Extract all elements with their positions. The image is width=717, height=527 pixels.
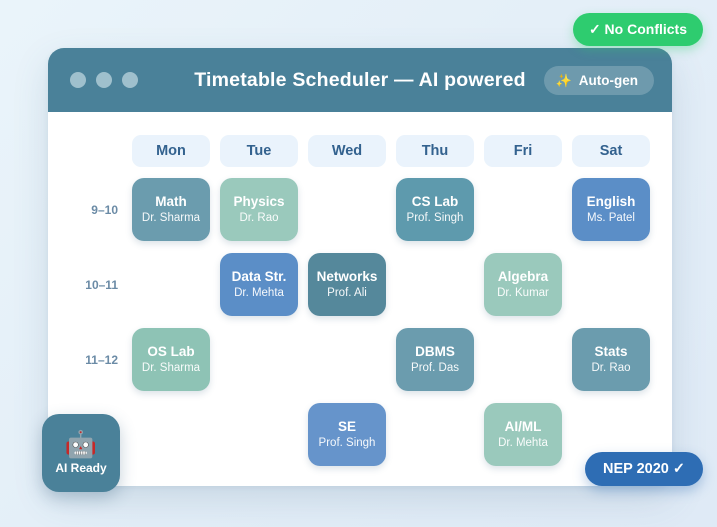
class-card[interactable]: AlgebraDr. Kumar	[484, 253, 562, 316]
class-card[interactable]: SEProf. Singh	[308, 403, 386, 466]
class-subject: DBMS	[415, 345, 455, 359]
class-subject: Algebra	[498, 270, 548, 284]
time-slot-label: 10–11	[70, 278, 122, 292]
status-badge-nep-2020[interactable]: NEP 2020 ✓	[585, 452, 703, 486]
minimize-icon[interactable]	[96, 72, 112, 88]
class-subject: Stats	[594, 345, 627, 359]
class-card[interactable]: Data Str.Dr. Mehta	[220, 253, 298, 316]
class-teacher: Ms. Patel	[587, 212, 635, 224]
window-controls[interactable]	[70, 72, 138, 88]
window-titlebar: Timetable Scheduler — AI powered ✨ Auto-…	[48, 48, 672, 112]
time-slot-label: 11–12	[70, 353, 122, 367]
class-teacher: Dr. Sharma	[142, 212, 200, 224]
class-teacher: Prof. Das	[411, 362, 459, 374]
close-icon[interactable]	[70, 72, 86, 88]
day-header-mon[interactable]: Mon	[132, 135, 210, 167]
class-subject: AI/ML	[505, 420, 542, 434]
class-card[interactable]: MathDr. Sharma	[132, 178, 210, 241]
day-header-tue[interactable]: Tue	[220, 135, 298, 167]
class-subject: SE	[338, 420, 356, 434]
day-header-fri[interactable]: Fri	[484, 135, 562, 167]
timetable-cell-empty[interactable]	[220, 328, 298, 391]
class-subject: Networks	[317, 270, 378, 284]
timetable-cell-empty[interactable]	[132, 403, 210, 466]
timetable-cell-empty[interactable]	[308, 328, 386, 391]
class-teacher: Prof. Singh	[407, 212, 464, 224]
timetable-cell-empty[interactable]	[396, 253, 474, 316]
class-subject: OS Lab	[147, 345, 194, 359]
timetable-body: MonTueWedThuFriSat9–10MathDr. SharmaPhys…	[48, 112, 672, 486]
auto-gen-button[interactable]: ✨ Auto-gen	[544, 66, 654, 95]
status-badge-no-conflicts[interactable]: ✓ No Conflicts	[573, 13, 703, 46]
class-teacher: Dr. Sharma	[142, 362, 200, 374]
robot-icon: 🤖	[65, 431, 97, 457]
class-subject: English	[587, 195, 636, 209]
class-card[interactable]: PhysicsDr. Rao	[220, 178, 298, 241]
class-card[interactable]: NetworksProf. Ali	[308, 253, 386, 316]
timetable-cell-empty[interactable]	[132, 253, 210, 316]
timetable-cell-empty[interactable]	[308, 178, 386, 241]
class-teacher: Prof. Singh	[319, 437, 376, 449]
ai-ready-label: AI Ready	[55, 461, 106, 475]
app-window: Timetable Scheduler — AI powered ✨ Auto-…	[48, 48, 672, 486]
timetable-cell-empty[interactable]	[396, 403, 474, 466]
class-card[interactable]: OS LabDr. Sharma	[132, 328, 210, 391]
class-subject: Data Str.	[232, 270, 287, 284]
class-card[interactable]: CS LabProf. Singh	[396, 178, 474, 241]
class-card[interactable]: DBMSProf. Das	[396, 328, 474, 391]
class-card[interactable]: AI/MLDr. Mehta	[484, 403, 562, 466]
timetable-cell-empty[interactable]	[484, 328, 562, 391]
day-header-sat[interactable]: Sat	[572, 135, 650, 167]
class-subject: Math	[155, 195, 187, 209]
class-teacher: Dr. Kumar	[497, 287, 549, 299]
class-teacher: Dr. Rao	[240, 212, 279, 224]
ai-ready-widget[interactable]: 🤖 AI Ready	[42, 414, 120, 492]
class-teacher: Dr. Mehta	[498, 437, 548, 449]
day-header-thu[interactable]: Thu	[396, 135, 474, 167]
class-teacher: Prof. Ali	[327, 287, 367, 299]
class-subject: Physics	[233, 195, 284, 209]
class-card[interactable]: EnglishMs. Patel	[572, 178, 650, 241]
class-card[interactable]: StatsDr. Rao	[572, 328, 650, 391]
class-teacher: Dr. Mehta	[234, 287, 284, 299]
maximize-icon[interactable]	[122, 72, 138, 88]
timetable-cell-empty[interactable]	[572, 253, 650, 316]
timetable-cell-empty[interactable]	[220, 403, 298, 466]
sparkles-icon: ✨	[556, 74, 572, 87]
day-header-wed[interactable]: Wed	[308, 135, 386, 167]
auto-gen-label: Auto-gen	[579, 73, 638, 88]
timetable-grid: MonTueWedThuFriSat9–10MathDr. SharmaPhys…	[70, 130, 650, 472]
timetable-cell-empty[interactable]	[484, 178, 562, 241]
class-teacher: Dr. Rao	[592, 362, 631, 374]
time-slot-label: 9–10	[70, 203, 122, 217]
class-subject: CS Lab	[412, 195, 459, 209]
